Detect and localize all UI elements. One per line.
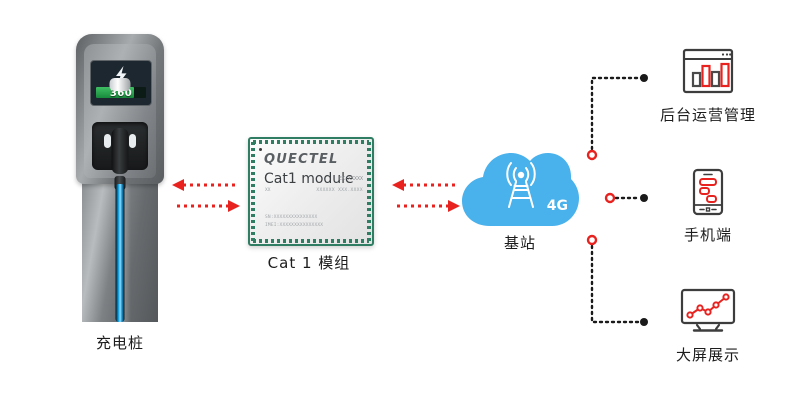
- plug-handle: [112, 128, 129, 174]
- endpoint-mobile-label: 手机端: [684, 224, 732, 245]
- cat1-module-label: Cat 1 模组: [239, 252, 379, 273]
- charging-pile-head: 360: [76, 34, 164, 184]
- module-brand: QUECTEL: [264, 152, 338, 167]
- base-station-graphic: 4G: [460, 140, 580, 230]
- link-pile-to-module: [172, 179, 240, 212]
- link-origin-marker: [606, 194, 614, 202]
- endpoint-backend-label: 后台运营管理: [660, 104, 756, 125]
- link-end-marker: [640, 318, 648, 326]
- link-origin-marker: [588, 151, 596, 159]
- module-pads-top: [253, 140, 369, 144]
- monitor-line-chart-icon: [680, 288, 736, 334]
- link-origin-marker: [588, 236, 596, 244]
- module-serial-2: IMEI:XXXXXXXXXXXXXXX: [265, 223, 323, 228]
- charging-pile-label: 充电桩: [60, 332, 180, 353]
- charging-pile-connector-slot: [92, 122, 148, 170]
- cat1-module-graphic: QUECTEL Cat1 module EX-XXXXX XX XXXXXX X…: [248, 137, 374, 246]
- browser-bar-chart-icon: [682, 48, 734, 94]
- cell-tower-icon: [494, 157, 548, 209]
- link-cloud-to-backend: [588, 74, 648, 159]
- endpoint-mobile-terminal[interactable]: 手机端: [648, 168, 768, 248]
- module-pads-right: [367, 142, 371, 241]
- link-end-marker: [640, 194, 648, 202]
- charging-cable: [116, 184, 125, 322]
- endpoint-bigscreen-label: 大屏展示: [676, 344, 740, 365]
- link-cloud-to-bigscreen: [588, 236, 648, 326]
- module-pads-bottom: [253, 239, 369, 243]
- module-pads-left: [251, 142, 255, 241]
- charging-pile-graphic: 360: [76, 34, 164, 322]
- module-sub-right: XXXXXX XXX.XXXX: [316, 188, 363, 193]
- module-sub-left: XX: [265, 188, 270, 193]
- smartphone-list-icon: [692, 168, 724, 216]
- network-type-label: 4G: [547, 198, 568, 214]
- plug-prong-right: [129, 134, 136, 148]
- module-serial-1: SN:XXXXXXXXXXXXXXX: [265, 215, 317, 220]
- module-part-number: EX-XXXXX: [339, 176, 363, 182]
- link-module-to-cloud: [392, 179, 460, 212]
- diagram-canvas: 360 充电桩 QUECTEL Cat1 module EX-XXXXX XX …: [0, 0, 800, 402]
- plug-collar: [110, 78, 131, 91]
- base-station-label: 基站: [460, 232, 580, 253]
- module-pin1-dot: [259, 148, 262, 151]
- link-cloud-to-mobile: [606, 194, 648, 202]
- endpoint-big-screen-display[interactable]: 大屏展示: [648, 288, 768, 368]
- endpoint-backend-management[interactable]: 后台运营管理: [648, 48, 768, 128]
- link-end-marker: [640, 74, 648, 82]
- plug-prong-left: [104, 134, 111, 148]
